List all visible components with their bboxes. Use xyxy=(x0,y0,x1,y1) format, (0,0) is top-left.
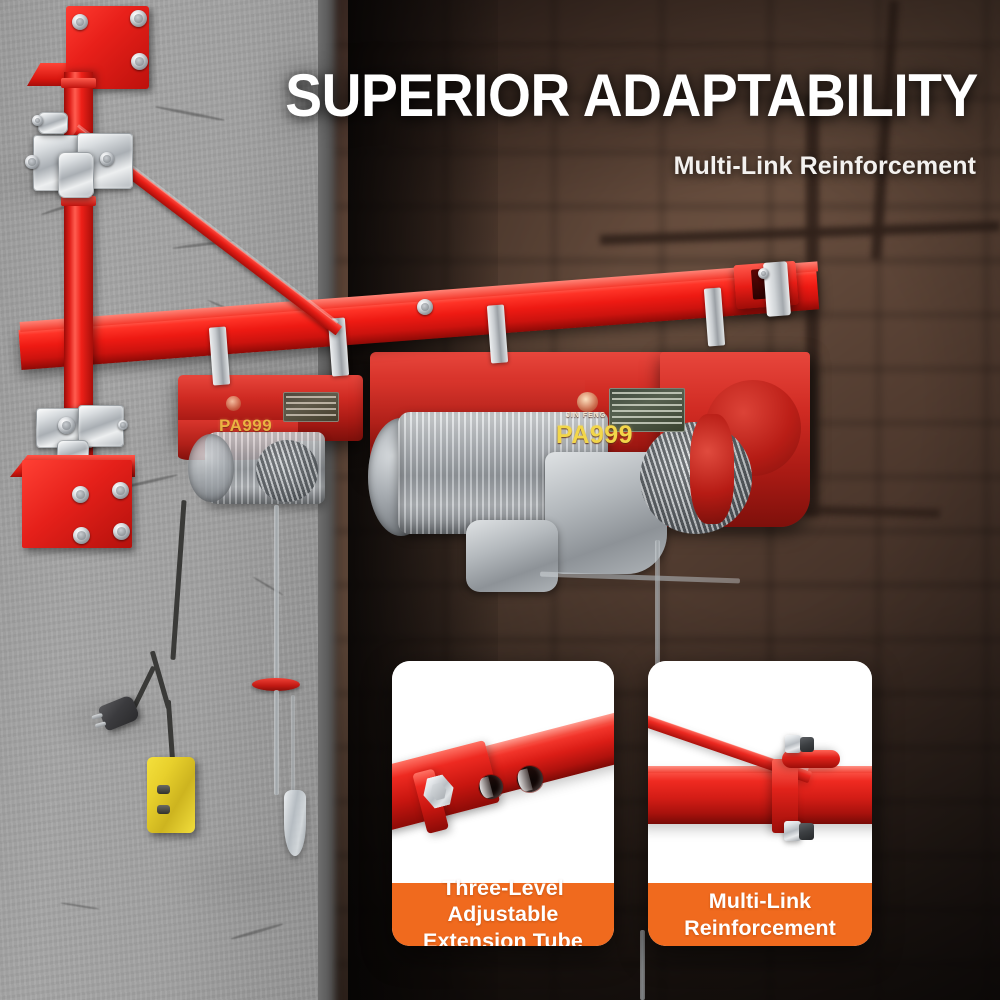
product-marketing-image: PA999 JIN FENG PA999 xyxy=(0,0,1000,1000)
background-hoist-model-text: PA999 xyxy=(219,416,272,436)
clamp-center-knuckle xyxy=(58,152,94,198)
main-beam xyxy=(648,769,872,824)
end-cap-bolt xyxy=(758,268,769,279)
clamp-tab xyxy=(38,112,68,134)
inset-card-extension-tube[interactable]: Three-Level Adjustable Extension Tube xyxy=(392,661,614,946)
main-beam-highlight xyxy=(648,766,872,773)
mount-bolt xyxy=(112,482,129,499)
clamp-bolt xyxy=(58,417,75,434)
clamp-bolt xyxy=(32,115,43,126)
boom-joint-bolt xyxy=(417,299,433,315)
mount-bolt xyxy=(113,523,130,540)
pendant-down-button xyxy=(157,805,170,814)
caption-line-1: Three-Level Adjustable xyxy=(442,876,564,926)
caption-line-1: Multi-Link xyxy=(709,889,812,913)
hoist-model-text: PA999 xyxy=(556,421,633,450)
background-brand-logo-icon xyxy=(226,396,241,411)
motor-base-housing xyxy=(466,520,558,592)
lower-link-nut xyxy=(799,823,814,840)
pendant-control xyxy=(147,757,195,833)
inset-photo-extension-tube xyxy=(392,661,614,883)
mount-bolt xyxy=(72,14,88,30)
clamp-bolt xyxy=(118,420,128,430)
brand-logo-icon xyxy=(577,392,598,412)
caption-text-extension-tube: Three-Level Adjustable Extension Tube xyxy=(400,875,606,946)
mount-bolt xyxy=(130,10,147,27)
background-rope-drum xyxy=(256,440,318,502)
wire-rope xyxy=(274,690,279,795)
background-spec-nameplate xyxy=(283,392,339,422)
hex-bolt-face xyxy=(429,782,449,802)
wire-rope-winding xyxy=(256,440,318,502)
drum-flange xyxy=(690,414,734,524)
page-subtitle: Multi-Link Reinforcement xyxy=(674,152,976,181)
mount-bolt xyxy=(73,527,90,544)
post-collar xyxy=(61,78,96,88)
inset-caption-multi-link: Multi-Link Reinforcement xyxy=(648,883,872,946)
nameplate-spec-rows xyxy=(286,396,336,418)
upper-link-nut xyxy=(800,737,814,752)
wire-rope xyxy=(640,930,645,1000)
upper-link-bolt xyxy=(785,735,801,753)
brand-name-text: JIN FENG xyxy=(566,412,606,419)
clamp-bolt xyxy=(100,152,114,166)
inset-photo-multi-link xyxy=(648,661,872,883)
wire-rope xyxy=(274,505,279,685)
inset-card-multi-link[interactable]: Multi-Link Reinforcement xyxy=(648,661,872,946)
mount-bolt xyxy=(72,486,89,503)
mount-bolt xyxy=(131,53,148,70)
pendant-up-button xyxy=(157,785,170,794)
caption-line-2: Reinforcement xyxy=(684,916,836,940)
caption-line-2: Extension Tube xyxy=(423,929,583,946)
caption-text-multi-link: Multi-Link Reinforcement xyxy=(684,888,836,940)
background-motor-end-cap xyxy=(188,434,234,502)
lifting-hook xyxy=(284,790,306,856)
page-title: SUPERIOR ADAPTABILITY xyxy=(285,66,978,126)
clamp-bolt xyxy=(25,155,39,169)
inset-caption-extension-tube: Three-Level Adjustable Extension Tube xyxy=(392,883,614,946)
wire-rope xyxy=(291,695,295,795)
